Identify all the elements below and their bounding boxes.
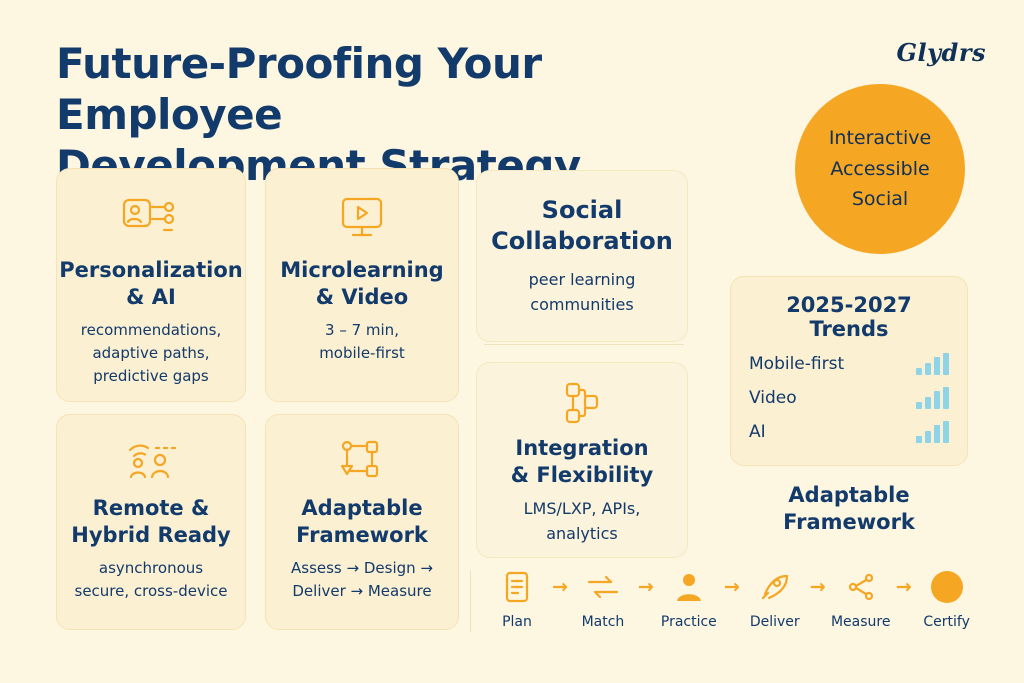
card-title: Adaptable Framework <box>266 495 458 549</box>
practice-person-icon <box>674 566 704 608</box>
card-sub-line-2: adaptive paths, <box>57 342 245 365</box>
trend-bars <box>916 421 949 443</box>
brand-logo: Glydrs <box>897 38 987 67</box>
process-step-label: Practice <box>661 614 717 630</box>
card-subtitle: 3 – 7 min, mobile-first <box>266 319 458 366</box>
card-subtitle: peer learning communities <box>477 268 687 318</box>
card-social-collaboration[interactable]: Social Collaboration peer learning commu… <box>476 170 688 342</box>
caption-line-1: Adaptable <box>730 482 968 509</box>
process-step-label: Match <box>582 614 625 630</box>
card-sub-line-2: mobile-first <box>266 342 458 365</box>
card-sub-line-2: analytics <box>477 522 687 547</box>
card-title: Remote & Hybrid Ready <box>57 495 245 549</box>
card-sub-line-3: predictive gaps <box>57 365 245 388</box>
certify-circle-icon <box>930 566 964 608</box>
card-sub-line-1: Assess → Design → <box>266 557 458 580</box>
trend-row: AI <box>749 421 949 443</box>
card-subtitle: LMS/LXP, APIs, analytics <box>477 497 687 547</box>
card-title-line-2: & Video <box>266 284 458 311</box>
card-title-line-1: Integration <box>477 435 687 462</box>
process-arrow: → <box>808 566 828 608</box>
card-title: Integration & Flexibility <box>477 435 687 489</box>
trends-panel: 2025-2027 Trends Mobile-first Video AI <box>730 276 968 466</box>
trend-row: Video <box>749 387 949 409</box>
process-arrow: → <box>722 566 742 608</box>
measure-network-icon <box>846 566 876 608</box>
card-title-line-2: & AI <box>57 284 245 311</box>
process-step-certify[interactable]: Certify <box>914 566 980 630</box>
process-step-label: Deliver <box>750 614 800 630</box>
card-title-line-1: Personalization <box>57 257 245 284</box>
card-subtitle: recommendations, adaptive paths, predict… <box>57 319 245 389</box>
process-step-measure[interactable]: Measure <box>828 566 894 630</box>
process-arrow: → <box>636 566 656 608</box>
trend-row: Mobile-first <box>749 353 949 375</box>
trend-label: Video <box>749 388 797 408</box>
process-arrow: → <box>894 566 914 608</box>
process-step-label: Measure <box>831 614 891 630</box>
plan-document-icon <box>503 566 531 608</box>
card-sub-line-2: Deliver → Measure <box>266 580 458 603</box>
process-step-label: Plan <box>502 614 532 630</box>
process-divider <box>470 570 471 632</box>
process-step-label: Certify <box>923 614 970 630</box>
card-title-line-2: Framework <box>266 522 458 549</box>
card-subtitle: asynchronous secure, cross-device <box>57 557 245 604</box>
microlearning-video-icon <box>266 181 458 257</box>
trends-heading: 2025-2027 Trends <box>749 293 949 341</box>
trend-bars <box>916 387 949 409</box>
match-arrows-icon <box>586 566 620 608</box>
card-title-line-1: Adaptable <box>266 495 458 522</box>
process-step-match[interactable]: Match <box>570 566 636 630</box>
card-sub-line-1: recommendations, <box>57 319 245 342</box>
card-sub-line-1: 3 – 7 min, <box>266 319 458 342</box>
process-arrow: → <box>550 566 570 608</box>
adaptable-framework-caption: Adaptable Framework <box>730 482 968 537</box>
card-microlearning-video[interactable]: Microlearning & Video 3 – 7 min, mobile-… <box>265 168 459 402</box>
integration-nodes-icon <box>477 373 687 435</box>
card-title-line-1: Microlearning <box>266 257 458 284</box>
card-integration-flexibility[interactable]: Integration & Flexibility LMS/LXP, APIs,… <box>476 362 688 558</box>
card-title: Social Collaboration <box>477 195 687 256</box>
card-title-line-1: Remote & <box>57 495 245 522</box>
card-personalization-ai[interactable]: Personalization & AI recommendations, ad… <box>56 168 246 402</box>
trend-label: Mobile-first <box>749 354 844 374</box>
card-sub-line-2: communities <box>477 293 687 318</box>
title-line-1: Future-Proofing Your Employee <box>56 39 542 139</box>
badge-interactive-accessible-social: Interactive Accessible Social <box>795 84 965 254</box>
section-divider <box>484 344 684 345</box>
adaptable-framework-icon <box>266 425 458 495</box>
trend-label: AI <box>749 422 766 442</box>
trend-bars <box>916 353 949 375</box>
card-remote-hybrid[interactable]: Remote & Hybrid Ready asynchronous secur… <box>56 414 246 630</box>
process-step-deliver[interactable]: Deliver <box>742 566 808 630</box>
process-step-practice[interactable]: Practice <box>656 566 722 630</box>
card-title-line-2: Collaboration <box>477 226 687 257</box>
process-flow: Plan → Match → Practice → <box>484 566 984 656</box>
card-sub-line-1: LMS/LXP, APIs, <box>477 497 687 522</box>
card-title-line-2: Hybrid Ready <box>57 522 245 549</box>
card-title-line-2: & Flexibility <box>477 462 687 489</box>
badge-line-2: Accessible <box>830 154 929 185</box>
badge-line-1: Interactive <box>829 123 931 154</box>
caption-line-2: Framework <box>730 509 968 536</box>
card-adaptable-framework[interactable]: Adaptable Framework Assess → Design → De… <box>265 414 459 630</box>
badge-line-3: Social <box>852 184 908 215</box>
card-title-line-1: Social <box>477 195 687 226</box>
infographic-root: Future-Proofing Your Employee Developmen… <box>0 0 1024 683</box>
card-title: Microlearning & Video <box>266 257 458 311</box>
card-title: Personalization & AI <box>57 257 245 311</box>
personalization-ai-icon <box>57 181 245 257</box>
card-sub-line-2: secure, cross-device <box>57 580 245 603</box>
card-subtitle: Assess → Design → Deliver → Measure <box>266 557 458 604</box>
deliver-rocket-icon <box>759 566 791 608</box>
remote-hybrid-icon <box>57 425 245 495</box>
card-sub-line-1: asynchronous <box>57 557 245 580</box>
card-sub-line-1: peer learning <box>477 268 687 293</box>
process-step-plan[interactable]: Plan <box>484 566 550 630</box>
